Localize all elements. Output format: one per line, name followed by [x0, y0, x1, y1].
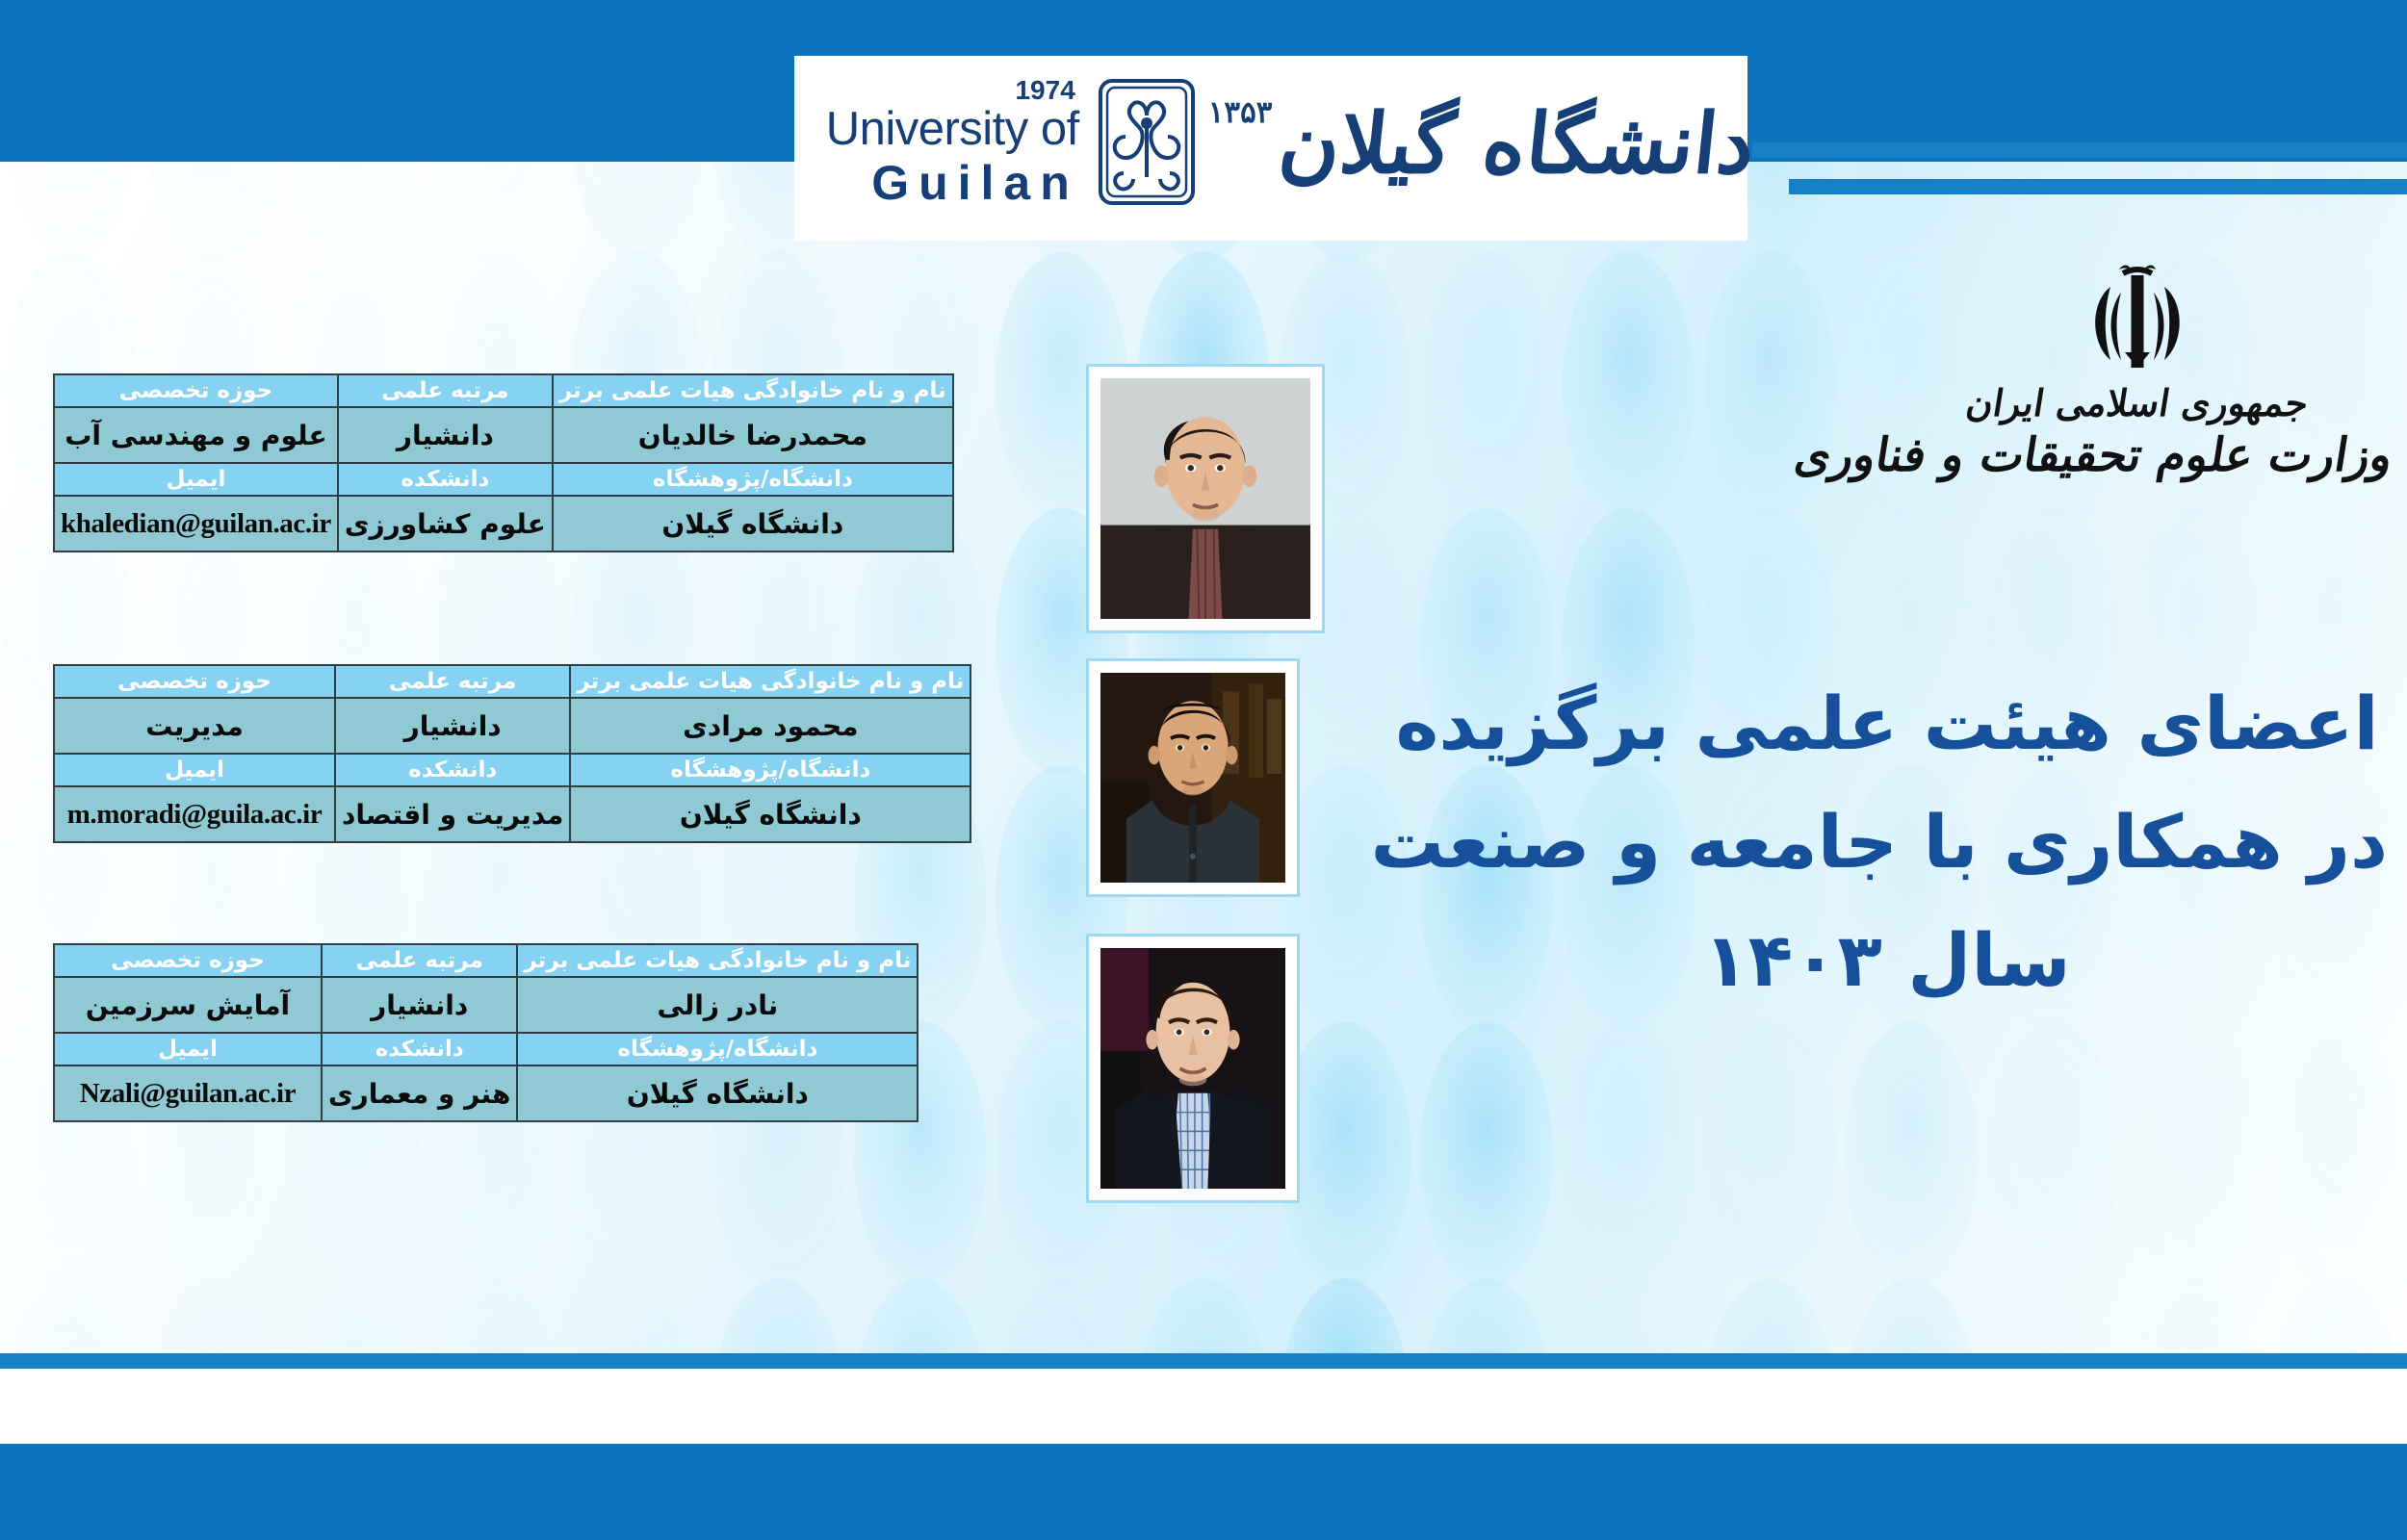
- header-rank: مرتبه علمی: [322, 944, 517, 977]
- iran-national-emblem-icon: [2065, 260, 2210, 375]
- value-email: Nzali@guilan.ac.ir: [54, 1065, 322, 1121]
- logo-year-persian: ۱۳۵۳: [1208, 95, 1273, 130]
- page-title: اعضای هیئت علمی برگزیده در همکاری با جام…: [1386, 664, 2388, 1019]
- value-name: محمدرضا خالدیان: [553, 407, 953, 463]
- value-name: نادر زالی: [517, 977, 918, 1033]
- accent-line-lower: [1789, 179, 2407, 194]
- member-card-1: نام و نام خانوادگی هیات علمی برتر مرتبه …: [53, 373, 954, 552]
- table-row: نام و نام خانوادگی هیات علمی برتر مرتبه …: [54, 665, 971, 698]
- member-table-1: نام و نام خانوادگی هیات علمی برتر مرتبه …: [53, 373, 954, 552]
- header-faculty: دانشکده: [335, 754, 570, 786]
- portrait-nader-zali: [1100, 948, 1285, 1189]
- page-title-line-1: اعضای هیئت علمی برگزیده: [1386, 664, 2388, 783]
- logo-name-persian: دانشگاه گیلان: [1276, 101, 1759, 188]
- page-title-line-3: سال ۱۴۰۳: [1386, 901, 2388, 1019]
- value-rank: دانشیار: [322, 977, 517, 1033]
- value-institution: دانشگاه گیلان: [553, 496, 953, 552]
- page-title-line-2: در همکاری با جامعه و صنعت: [1386, 783, 2388, 901]
- header-rank: مرتبه علمی: [338, 374, 553, 407]
- value-rank: دانشیار: [338, 407, 553, 463]
- member-card-2: نام و نام خانوادگی هیات علمی برتر مرتبه …: [53, 664, 971, 843]
- ministry-line-ministry: وزارت علوم تحقیقات و فناوری: [1878, 428, 2397, 482]
- value-email: khaledian@guilan.ac.ir: [54, 496, 338, 552]
- table-row: دانشگاه/پژوهشگاه دانشکده ایمیل: [54, 1033, 918, 1065]
- value-field: مدیریت: [54, 698, 335, 754]
- value-email: m.moradi@guila.ac.ir: [54, 786, 335, 842]
- table-row: دانشگاه گیلان هنر و معماری Nzali@guilan.…: [54, 1065, 918, 1121]
- header-field: حوزه تخصصی: [54, 944, 322, 977]
- table-row: دانشگاه گیلان مدیریت و اقتصاد m.moradi@g…: [54, 786, 971, 842]
- table-row: محمدرضا خالدیان دانشیار علوم و مهندسی آب: [54, 407, 953, 463]
- portrait-mohammadreza-khaledian: [1100, 378, 1310, 619]
- table-row: نام و نام خانوادگی هیات علمی برتر مرتبه …: [54, 374, 953, 407]
- logo-line-university-of: University of: [826, 106, 1079, 153]
- header-institution: دانشگاه/پژوهشگاه: [517, 1033, 918, 1065]
- header-rank: مرتبه علمی: [335, 665, 570, 698]
- value-institution: دانشگاه گیلان: [517, 1065, 918, 1121]
- university-logo-english: 1974 University of Guilan: [826, 77, 1085, 207]
- header-email: ایمیل: [54, 1033, 322, 1065]
- header-institution: دانشگاه/پژوهشگاه: [553, 463, 953, 496]
- bottom-thin-line: [0, 1353, 2407, 1369]
- header-field: حوزه تخصصی: [54, 374, 338, 407]
- value-field: علوم و مهندسی آب: [54, 407, 338, 463]
- header-field: حوزه تخصصی: [54, 665, 335, 698]
- portrait-mahmoud-moradi: [1100, 673, 1285, 883]
- accent-line-upper: [1752, 142, 2407, 158]
- university-logo-persian: ۱۳۵۳ دانشگاه گیلان: [1208, 95, 1755, 188]
- table-row: محمود مرادی دانشیار مدیریت: [54, 698, 971, 754]
- header-faculty: دانشکده: [338, 463, 553, 496]
- member-photo-frame-1: [1086, 364, 1325, 633]
- member-photo-frame-3: [1086, 934, 1300, 1203]
- header-name: نام و نام خانوادگی هیات علمی برتر: [570, 665, 971, 698]
- value-faculty: هنر و معماری: [322, 1065, 517, 1121]
- bottom-white-gap: [0, 1369, 2407, 1444]
- value-institution: دانشگاه گیلان: [570, 786, 971, 842]
- poster-canvas: 1974 University of Guilan ۱۳۵۳ دانشگاه گ…: [0, 0, 2407, 1540]
- ministry-emblem-block: جمهوری اسلامی ایران وزارت علوم تحقیقات و…: [1882, 260, 2393, 482]
- member-table-3: نام و نام خانوادگی هیات علمی برتر مرتبه …: [53, 943, 919, 1122]
- value-faculty: مدیریت و اقتصاد: [335, 786, 570, 842]
- guilan-university-emblem-icon: [1095, 77, 1199, 207]
- table-row: دانشگاه/پژوهشگاه دانشکده ایمیل: [54, 463, 953, 496]
- table-row: نام و نام خانوادگی هیات علمی برتر مرتبه …: [54, 944, 918, 977]
- header-institution: دانشگاه/پژوهشگاه: [570, 754, 971, 786]
- header-name: نام و نام خانوادگی هیات علمی برتر: [517, 944, 918, 977]
- header-email: ایمیل: [54, 754, 335, 786]
- member-table-2: نام و نام خانوادگی هیات علمی برتر مرتبه …: [53, 664, 971, 843]
- table-row: نادر زالی دانشیار آمایش سرزمین: [54, 977, 918, 1033]
- header-faculty: دانشکده: [322, 1033, 517, 1065]
- table-row: دانشگاه گیلان علوم کشاورزی khaledian@gui…: [54, 496, 953, 552]
- value-name: محمود مرادی: [570, 698, 971, 754]
- member-photo-frame-2: [1086, 658, 1300, 897]
- value-field: آمایش سرزمین: [54, 977, 322, 1033]
- logo-line-guilan: Guilan: [826, 159, 1079, 207]
- value-faculty: علوم کشاورزی: [338, 496, 553, 552]
- ministry-line-republic: جمهوری اسلامی ایران: [1878, 381, 2395, 424]
- header-name: نام و نام خانوادگی هیات علمی برتر: [553, 374, 953, 407]
- value-rank: دانشیار: [335, 698, 570, 754]
- header-email: ایمیل: [54, 463, 338, 496]
- university-logo: 1974 University of Guilan ۱۳۵۳ دانشگاه گ…: [867, 60, 1714, 223]
- member-card-3: نام و نام خانوادگی هیات علمی برتر مرتبه …: [53, 943, 919, 1122]
- logo-year-english: 1974: [826, 77, 1075, 104]
- table-row: دانشگاه/پژوهشگاه دانشکده ایمیل: [54, 754, 971, 786]
- bottom-blue-band: [0, 1444, 2407, 1540]
